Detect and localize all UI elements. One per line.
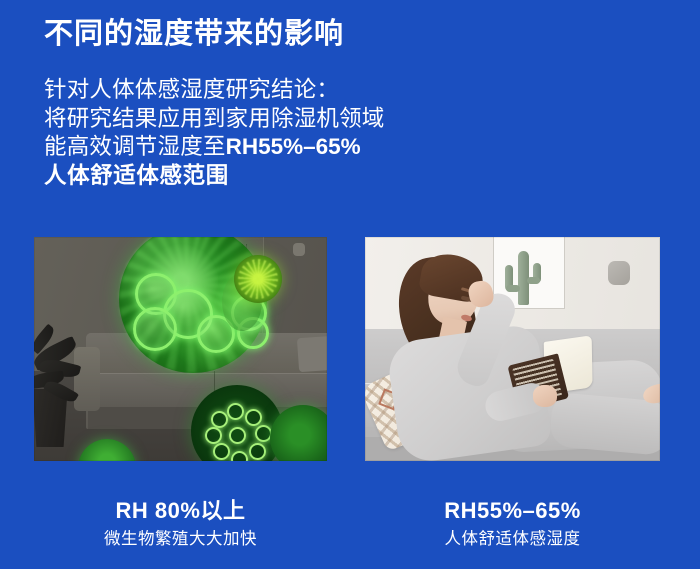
- bacteria-blob-virus: [234, 255, 282, 303]
- wall-speaker-icon: [293, 243, 305, 256]
- caption-title: RH 80%以上: [34, 497, 327, 525]
- photo-comfort-humidity: [365, 237, 660, 461]
- bacteria-spore: [245, 409, 262, 426]
- bacteria-cell: [133, 307, 177, 351]
- subcopy-line-3-prefix: 能高效调节湿度至: [44, 134, 226, 159]
- caption-high-humidity: RH 80%以上 微生物繁殖大大加快: [34, 497, 327, 551]
- caption-subtitle: 人体舒适体感湿度: [365, 527, 660, 551]
- caption-title: RH55%–65%: [365, 497, 660, 525]
- sofa-cushion: [297, 336, 327, 372]
- bacteria-spore: [227, 403, 244, 420]
- subcopy-line-3: 能高效调节湿度至RH55%–65%: [44, 133, 385, 162]
- caption-subtitle: 微生物繁殖大大加快: [34, 527, 327, 551]
- subcopy-line-2: 将研究结果应用到家用除湿机领域: [44, 105, 385, 134]
- subcopy-line-1: 针对人体体感湿度研究结论：: [44, 76, 385, 105]
- bacteria-spore: [249, 443, 266, 460]
- bacteria-spore: [231, 451, 248, 461]
- humidity-infographic-page: 不同的湿度带来的影响 针对人体体感湿度研究结论： 将研究结果应用到家用除湿机领域…: [0, 0, 700, 569]
- bacteria-spore: [213, 443, 230, 460]
- hand-holding-book: [533, 385, 557, 407]
- woman-reading: [365, 237, 660, 461]
- sofa-arm-left: [74, 347, 100, 411]
- subcopy-line-4: 人体舒适体感范围: [44, 162, 385, 191]
- bright-living-room-scene: [365, 237, 660, 461]
- lower-legs: [549, 392, 660, 456]
- caption-comfort-humidity: RH55%–65% 人体舒适体感湿度: [365, 497, 660, 551]
- subcopy-block: 针对人体体感湿度研究结论： 将研究结果应用到家用除湿机领域 能高效调节湿度至RH…: [44, 76, 385, 190]
- humidity-range-emphasis: RH55%–65%: [226, 134, 361, 159]
- bacteria-spore: [205, 427, 222, 444]
- photo-high-humidity: [34, 237, 327, 461]
- dark-living-room-scene: [34, 237, 327, 461]
- bacteria-spore: [229, 427, 246, 444]
- bacteria-spore: [211, 411, 228, 428]
- page-title: 不同的湿度带来的影响: [44, 17, 344, 52]
